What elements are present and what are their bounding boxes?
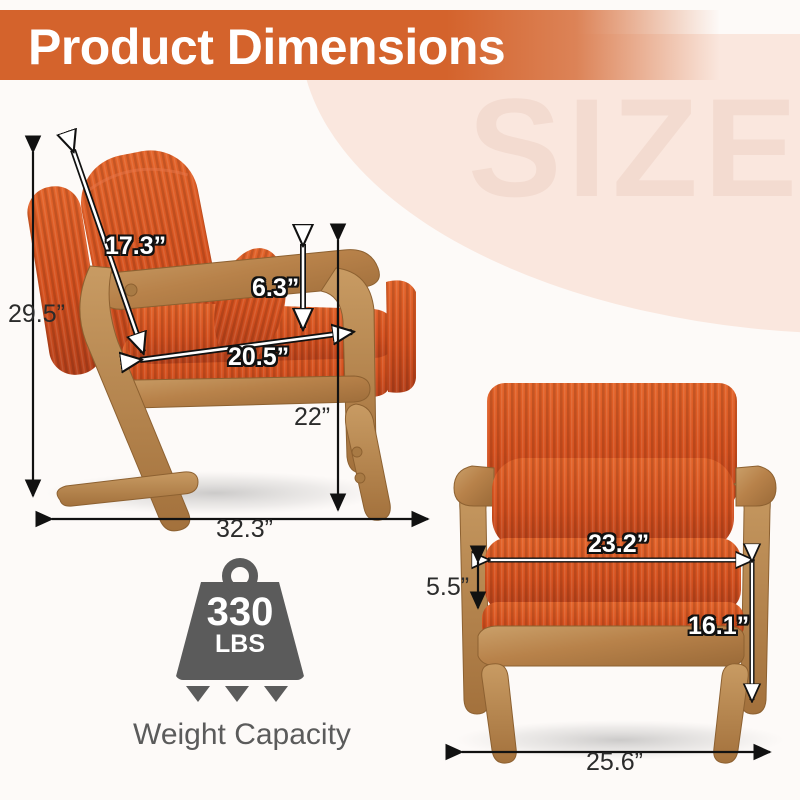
dim-label-seat-height: 16.1” — [688, 612, 749, 641]
weight-icon: 330 LBS — [175, 558, 305, 680]
chair-side-view-graphic — [24, 142, 416, 531]
dim-label-overall-depth: 32.3” — [216, 515, 273, 544]
header-banner: Product Dimensions — [0, 10, 720, 80]
weight-icon-handle — [222, 558, 258, 594]
dim-label-seat-width: 23.2” — [588, 530, 649, 559]
dim-label-cushion-height: 5.5” — [426, 573, 469, 602]
dim-label-armrest-height: 22” — [294, 403, 330, 432]
chair-front-view-graphic — [454, 383, 785, 763]
dim-label-backrest-height: 17.3” — [105, 232, 166, 261]
dim-label-armrest-clearance: 6.3” — [252, 274, 299, 303]
weight-capacity-caption: Weight Capacity — [107, 718, 377, 752]
weight-capacity-unit: LBS — [175, 632, 305, 657]
dim-label-seat-depth: 20.5” — [228, 343, 289, 372]
weight-capacity-value: 330 — [175, 592, 305, 632]
infographic-canvas: SIZE — [0, 0, 800, 800]
weight-capacity-badge: 330 LBS Weight Capacity — [115, 558, 365, 763]
dim-label-overall-width: 25.6” — [586, 748, 643, 777]
down-arrow-icon-3 — [264, 686, 288, 702]
down-arrow-icon-1 — [186, 686, 210, 702]
dim-label-overall-height: 29.5” — [8, 300, 65, 329]
down-arrow-icon-2 — [225, 686, 249, 702]
page-title: Product Dimensions — [28, 22, 505, 72]
